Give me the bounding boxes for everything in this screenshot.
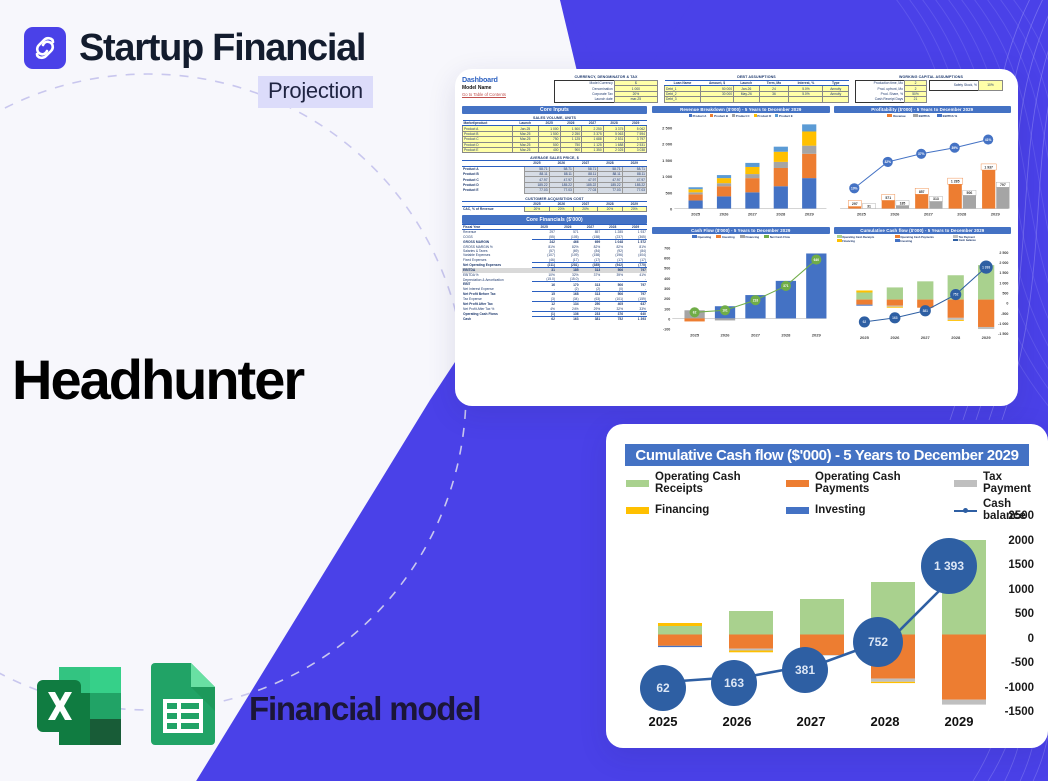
data-label: 752 [868, 635, 888, 649]
wc-receipt-value[interactable]: 21 [905, 97, 927, 102]
launch-date-label: Launch date [555, 97, 615, 102]
brand-subtitle-wrap: Projection [258, 76, 373, 108]
svg-text:2027: 2027 [748, 212, 758, 217]
data-marker-2027: 381 [782, 647, 828, 693]
svg-text:297: 297 [851, 202, 857, 206]
svg-text:31: 31 [867, 204, 871, 208]
svg-text:101: 101 [722, 309, 728, 313]
x-axis-labels: 2025 2026 2027 2028 2029 [626, 714, 996, 729]
fin-cell: 1 393 [624, 317, 647, 322]
financials-table: Fiscal Year 2025 2026 2027 2028 2029 Rev… [462, 224, 647, 322]
svg-text:1 500: 1 500 [999, 272, 1008, 276]
svg-text:600: 600 [664, 257, 670, 261]
data-label: 62 [656, 681, 669, 695]
svg-text:1 937: 1 937 [984, 165, 993, 169]
wc-receipt-label: Cash Receipt Days [856, 97, 905, 102]
svg-text:313: 313 [933, 197, 939, 201]
svg-text:2 500: 2 500 [662, 125, 673, 130]
svg-text:2025: 2025 [691, 212, 701, 217]
x-tick: 2029 [922, 714, 996, 729]
table-row[interactable]: CAC, % of Revenue 20% 20% 20% 20% 20% [462, 207, 647, 212]
core-financials-band: Core Financials ($'000) [462, 215, 647, 223]
svg-text:100: 100 [664, 308, 670, 312]
y-tick: 2500 [1008, 510, 1034, 522]
svg-text:-100: -100 [663, 328, 670, 332]
svg-text:2 000: 2 000 [662, 142, 673, 147]
data-marker-2028: 752 [853, 617, 903, 667]
table-row[interactable]: Net Profit Before Tax15168313506797 [462, 292, 647, 297]
svg-text:0: 0 [668, 318, 670, 322]
svg-text:2026: 2026 [890, 335, 900, 340]
svg-text:2027: 2027 [751, 333, 761, 338]
table-row[interactable]: Variable Expenses(107)(109)(158)(196)(40… [462, 253, 647, 257]
data-marker-2025: 62 [640, 665, 686, 711]
svg-text:0: 0 [670, 207, 673, 212]
revenue-breakdown-plot: 2 5002 0001 500 1 0005000 202520 [652, 118, 830, 221]
svg-text:218: 218 [753, 299, 759, 303]
footer-label: Financial model [249, 690, 480, 728]
svg-text:506: 506 [966, 191, 972, 195]
table-row[interactable]: Debt_3 [665, 97, 849, 102]
data-marker-2026: 163 [711, 660, 757, 706]
table-row[interactable]: Net Profit After Tax %4%24%29%32%33% [462, 306, 647, 311]
fin-cell: 62 [532, 317, 556, 322]
microsoft-excel-icon [35, 661, 127, 756]
y-tick: 0 [1028, 633, 1034, 645]
svg-text:0: 0 [1006, 302, 1008, 306]
page-title: Headhunter [12, 352, 303, 408]
legend-operating-cash-payments[interactable]: Operating Cash Payments [786, 471, 954, 495]
svg-text:32%: 32% [884, 160, 891, 164]
svg-text:-1 000: -1 000 [998, 322, 1008, 326]
svg-text:2028: 2028 [776, 212, 786, 217]
svg-text:500: 500 [1002, 292, 1008, 296]
y-tick: -500 [1011, 657, 1034, 669]
core-inputs-band: Core Inputs [462, 106, 647, 114]
debt-caption: DEBT ASSUMPTIONS [664, 75, 849, 79]
svg-text:381: 381 [922, 309, 928, 313]
legend-label: Operating Cash Payments [815, 471, 954, 495]
svg-text:2026: 2026 [890, 212, 900, 217]
svg-text:2028: 2028 [781, 333, 791, 338]
launch-date-value[interactable]: mar-25 [614, 97, 657, 102]
svg-text:1 285: 1 285 [950, 180, 959, 184]
brand-header: Startup Financial [24, 27, 365, 69]
mini-chart-title: Revenue Breakdown ($'000) - 5 Years to D… [652, 106, 830, 113]
toc-link[interactable]: Go to Table of Contents [462, 92, 548, 97]
svg-text:1 000: 1 000 [999, 282, 1008, 286]
svg-text:2025: 2025 [856, 212, 866, 217]
y-tick: 2000 [1008, 535, 1034, 547]
brand-subtitle: Projection [258, 76, 373, 108]
fin-cell: 381 [580, 317, 602, 322]
table-row[interactable]: Product E 77.03 77.03 77.03 77.03 77.03 [462, 188, 647, 193]
table-row[interactable]: Operating Cash Flows(1)136233376640 [462, 311, 647, 316]
svg-text:2029: 2029 [812, 333, 822, 338]
svg-text:640: 640 [814, 258, 820, 262]
svg-text:371: 371 [783, 284, 789, 288]
brand-title: Startup Financial [79, 29, 365, 67]
x-tick: 2027 [774, 714, 848, 729]
svg-text:752: 752 [953, 293, 959, 297]
fin-cell: 163 [556, 317, 580, 322]
svg-text:10%: 10% [851, 186, 858, 190]
svg-text:2029: 2029 [981, 335, 991, 340]
bar-group-2025 [658, 623, 702, 647]
profitability-plot: 297 31 571 185 857 313 1 285 506 1 937 7… [834, 118, 1012, 221]
data-label: 163 [724, 676, 744, 690]
svg-text:37%: 37% [917, 152, 924, 156]
table-row[interactable]: Net Operating Expenses(211)(281)(385)(54… [462, 262, 647, 267]
fin-row-label: Cash [462, 317, 532, 322]
mini-chart-title: Cash Flow ($'000) - 5 Years to December … [652, 227, 830, 234]
svg-text:700: 700 [664, 247, 670, 251]
table-row[interactable]: Net Interest Expense-(2)(2)(0)- [462, 287, 647, 292]
svg-text:62: 62 [862, 320, 866, 324]
table-row[interactable]: Cash621633817521 393 [462, 317, 647, 322]
svg-text:400: 400 [664, 277, 670, 281]
y-tick: 1000 [1008, 584, 1034, 596]
svg-text:2 500: 2 500 [999, 251, 1008, 255]
wc-caption: WORKING CAPITAL ASSUMPTIONS [855, 75, 1007, 79]
svg-text:857: 857 [918, 190, 924, 194]
legend-label: Operating Cash Receipts [655, 471, 786, 495]
svg-text:797: 797 [1000, 183, 1006, 187]
svg-text:-1 500: -1 500 [998, 332, 1008, 336]
svg-text:1 500: 1 500 [662, 158, 673, 163]
svg-text:1 393: 1 393 [982, 266, 990, 270]
svg-text:2028: 2028 [957, 212, 967, 217]
mini-chart-title: Cumulative Cash flow ($'000) - 5 Years t… [834, 227, 1012, 234]
dashboard-preview-card[interactable]: Dashboard Model Name Go to Table of Cont… [455, 69, 1018, 406]
table-row[interactable]: Product E Mar-25 400 900 1 350 2 025 3 0… [463, 147, 647, 152]
bar-group-2026 [729, 611, 773, 652]
mini-chart-cumulative-cash-flow[interactable]: Cumulative Cash flow ($'000) - 5 Years t… [834, 227, 1012, 344]
mini-chart-title: Profitability ($'000) - 5 Years to Decem… [834, 106, 1012, 113]
mini-chart-revenue-breakdown[interactable]: Revenue Breakdown ($'000) - 5 Years to D… [652, 106, 830, 223]
svg-text:2025: 2025 [690, 333, 700, 338]
y-tick: -1000 [1005, 682, 1034, 694]
svg-text:2025: 2025 [859, 335, 869, 340]
svg-text:2 000: 2 000 [999, 261, 1008, 265]
y-tick: 1500 [1008, 559, 1034, 571]
footer-row: Financial model [35, 661, 480, 756]
svg-text:2029: 2029 [990, 212, 1000, 217]
svg-text:500: 500 [666, 190, 674, 195]
svg-text:-500: -500 [1001, 312, 1008, 316]
svg-text:185: 185 [899, 201, 905, 205]
fin-cell: 752 [601, 317, 624, 322]
svg-text:200: 200 [664, 297, 670, 301]
data-label: 381 [795, 663, 815, 677]
mini-chart-cash-flow[interactable]: Cash Flow ($'000) - 5 Years to December … [652, 227, 830, 344]
legend-operating-cash-receipts[interactable]: Operating Cash Receipts [626, 471, 786, 495]
y-tick: -1500 [1005, 706, 1034, 718]
x-tick: 2025 [626, 714, 700, 729]
legend-label: Tax Payment [983, 471, 1034, 495]
wc-safety-value[interactable]: 10% [979, 81, 1003, 91]
svg-text:300: 300 [664, 287, 670, 291]
cash-flow-plot: 700600500400 3002001000-100 [652, 239, 830, 342]
legend-swatch [786, 480, 809, 487]
legend-swatch [626, 480, 649, 487]
table-row[interactable]: Net Profit After Tax12134250405637 [462, 302, 647, 307]
dashboard-title: Dashboard [462, 75, 548, 84]
dashboard-sheet: Dashboard Model Name Go to Table of Cont… [455, 69, 1018, 406]
svg-text:41%: 41% [984, 138, 991, 142]
x-tick: 2028 [848, 714, 922, 729]
data-marker-2029: 1 393 [921, 538, 977, 594]
svg-text:2027: 2027 [923, 212, 933, 217]
svg-text:571: 571 [885, 196, 891, 200]
legend-swatch [954, 480, 977, 487]
model-name-label: Model Name [462, 85, 548, 91]
y-tick: 500 [1015, 608, 1034, 620]
chart-title: Cumulative Cash flow ($'000) - 5 Years t… [625, 444, 1029, 466]
svg-text:2028: 2028 [951, 335, 961, 340]
y-axis-labels: 2500 2000 1500 1000 500 0 -500 -1000 -15… [978, 516, 1034, 712]
legend-tax-payment[interactable]: Tax Payment [954, 471, 1034, 495]
svg-text:62: 62 [693, 311, 697, 315]
currency-caption: CURRENCY, DENOMINATOR & TAX [554, 75, 658, 79]
cumulative-cash-flow-card[interactable]: Cumulative Cash flow ($'000) - 5 Years t… [606, 424, 1048, 748]
google-sheets-icon [145, 661, 219, 756]
svg-text:2029: 2029 [805, 212, 815, 217]
wc-safety-label: Safety Stock, % [930, 81, 979, 91]
svg-text:2026: 2026 [721, 333, 731, 338]
cumulative-cash-flow-plot: 2 5002 0001 5001 000 5000-500-1 000-1 50… [834, 243, 1012, 343]
svg-text:39%: 39% [951, 146, 958, 150]
svg-text:2027: 2027 [920, 335, 930, 340]
svg-text:2026: 2026 [720, 212, 730, 217]
svg-text:163: 163 [892, 316, 898, 320]
svg-text:500: 500 [664, 267, 670, 271]
svg-text:1 000: 1 000 [662, 174, 673, 179]
data-label: 1 393 [934, 559, 964, 573]
mini-chart-profitability[interactable]: Profitability ($'000) - 5 Years to Decem… [834, 106, 1012, 223]
e-loop-icon [24, 27, 66, 69]
x-tick: 2026 [700, 714, 774, 729]
